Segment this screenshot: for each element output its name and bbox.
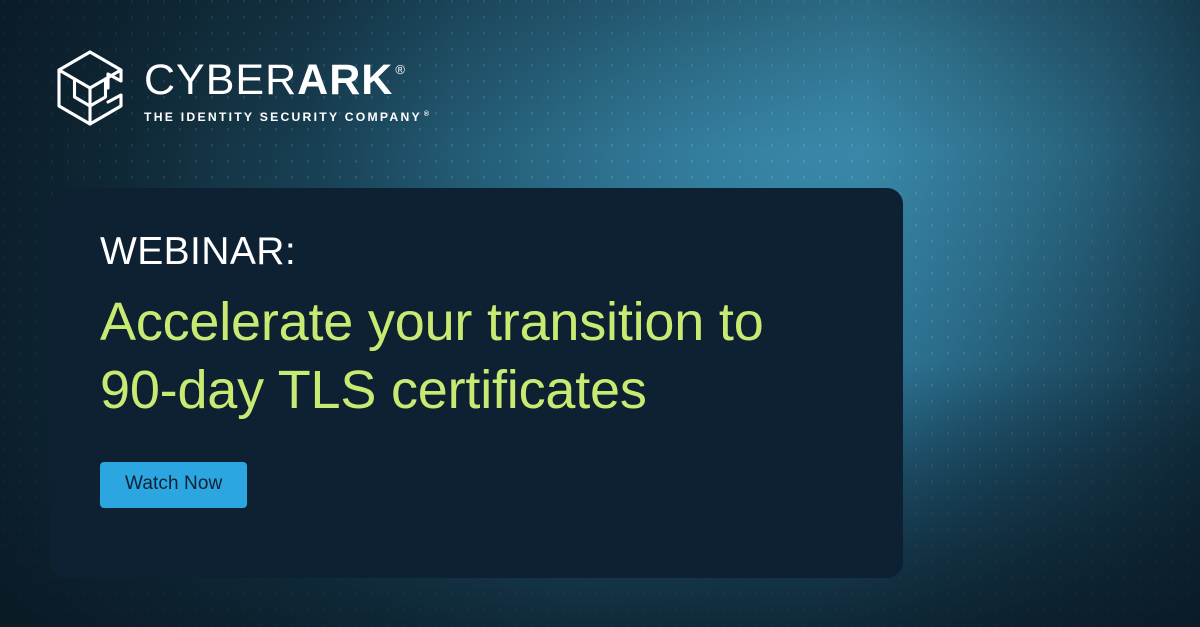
wordmark-ark: ARK bbox=[297, 59, 393, 103]
brand-tagline-text: THE IDENTITY SECURITY COMPANY bbox=[144, 110, 422, 124]
cyberark-wordmark: CYBERARK® bbox=[144, 59, 431, 103]
page-title: Accelerate your transition to 90-day TLS… bbox=[100, 288, 863, 424]
cyberark-logo-text: CYBERARK® THE IDENTITY SECURITY COMPANY® bbox=[144, 57, 431, 124]
brand-tagline: THE IDENTITY SECURITY COMPANY® bbox=[144, 110, 431, 124]
wordmark-cyber: CYBER bbox=[144, 59, 297, 103]
card-content: WEBINAR: Accelerate your transition to 9… bbox=[100, 230, 863, 508]
eyebrow-label: WEBINAR: bbox=[100, 230, 863, 274]
cyberark-cube-logo-icon bbox=[50, 48, 130, 133]
cyberark-logo-lockup[interactable]: CYBERARK® THE IDENTITY SECURITY COMPANY® bbox=[50, 48, 431, 133]
registered-trademark-icon: ® bbox=[395, 63, 406, 76]
promo-banner: CYBERARK® THE IDENTITY SECURITY COMPANY®… bbox=[0, 0, 1200, 627]
watch-now-button[interactable]: Watch Now bbox=[100, 462, 247, 508]
tagline-registered-trademark-icon: ® bbox=[424, 111, 431, 118]
webinar-content-card: WEBINAR: Accelerate your transition to 9… bbox=[50, 188, 903, 578]
